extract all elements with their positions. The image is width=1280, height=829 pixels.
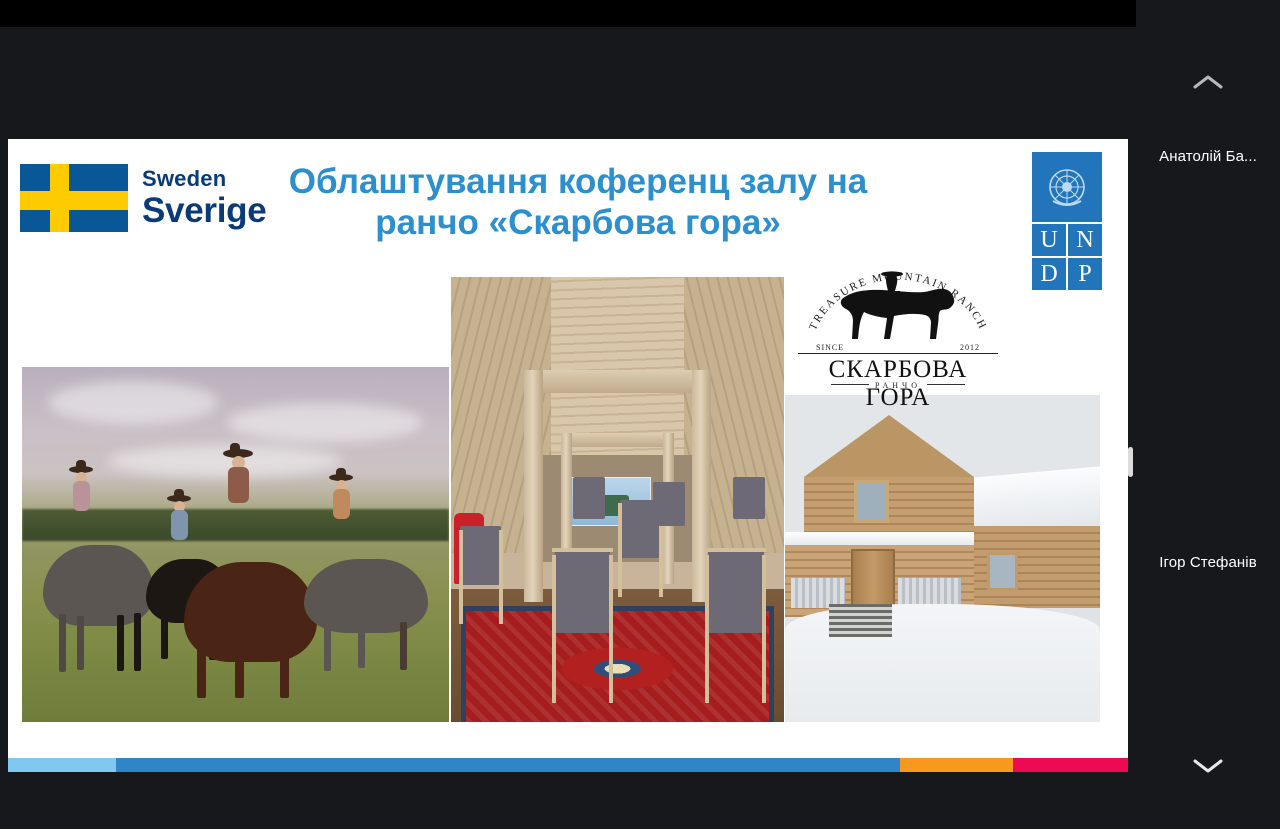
group-header-1: Анатолій Ба...	[1136, 148, 1280, 165]
sweden-logo: Sweden Sverige	[20, 164, 266, 232]
photo-winter-log-cabin	[785, 395, 1100, 722]
shared-content-stage: Sweden Sverige Облаштування коференц зал…	[0, 27, 1136, 829]
slide-title: Облаштування коференц залу на ранчо «Ска…	[268, 161, 888, 244]
swedish-flag-icon	[20, 164, 128, 232]
top-black-bar	[0, 0, 1280, 27]
chevron-up-icon	[1193, 74, 1223, 90]
sweden-logo-line2: Sverige	[142, 193, 266, 228]
photo-riders-field	[22, 367, 449, 722]
ranch-subtitle: РАНЧО	[875, 381, 921, 390]
ranch-since-year: 2012	[960, 343, 980, 352]
ranch-logo: TREASURE MOUNTAIN RANCH SINCE 2012 СКАРБ…	[798, 255, 998, 391]
group-header-2: Ігор Стефанів	[1136, 554, 1280, 571]
undp-letter-u: U	[1032, 224, 1066, 256]
undp-logo: U N D P	[1032, 152, 1102, 290]
scroll-up-button[interactable]	[1136, 62, 1280, 102]
chevron-down-icon	[1193, 757, 1223, 773]
colorbar-crimson	[1013, 758, 1128, 772]
participants-rail: Анатолій Ба... Анатолій Банера	[1136, 0, 1280, 829]
undp-letter-d: D	[1032, 258, 1066, 290]
undp-letter-p: P	[1068, 258, 1102, 290]
photo-wooden-conference-hall	[451, 277, 784, 722]
ranch-since-label: SINCE	[816, 343, 844, 352]
sweden-logo-line1: Sweden	[142, 168, 266, 190]
colorbar-orange	[900, 758, 1013, 772]
colorbar-light-blue	[8, 758, 116, 772]
panel-splitter-handle[interactable]	[1128, 447, 1133, 477]
un-globe-emblem-icon	[1032, 152, 1102, 222]
shared-slide[interactable]: Sweden Sverige Облаштування коференц зал…	[8, 139, 1128, 772]
meeting-window: Sweden Sverige Облаштування коференц зал…	[0, 0, 1280, 829]
scroll-down-button[interactable]	[1136, 745, 1280, 785]
undp-letter-n: N	[1068, 224, 1102, 256]
slide-footer-colorbar	[8, 758, 1128, 772]
colorbar-blue	[116, 758, 900, 772]
horse-rider-silhouette-icon	[826, 269, 971, 347]
